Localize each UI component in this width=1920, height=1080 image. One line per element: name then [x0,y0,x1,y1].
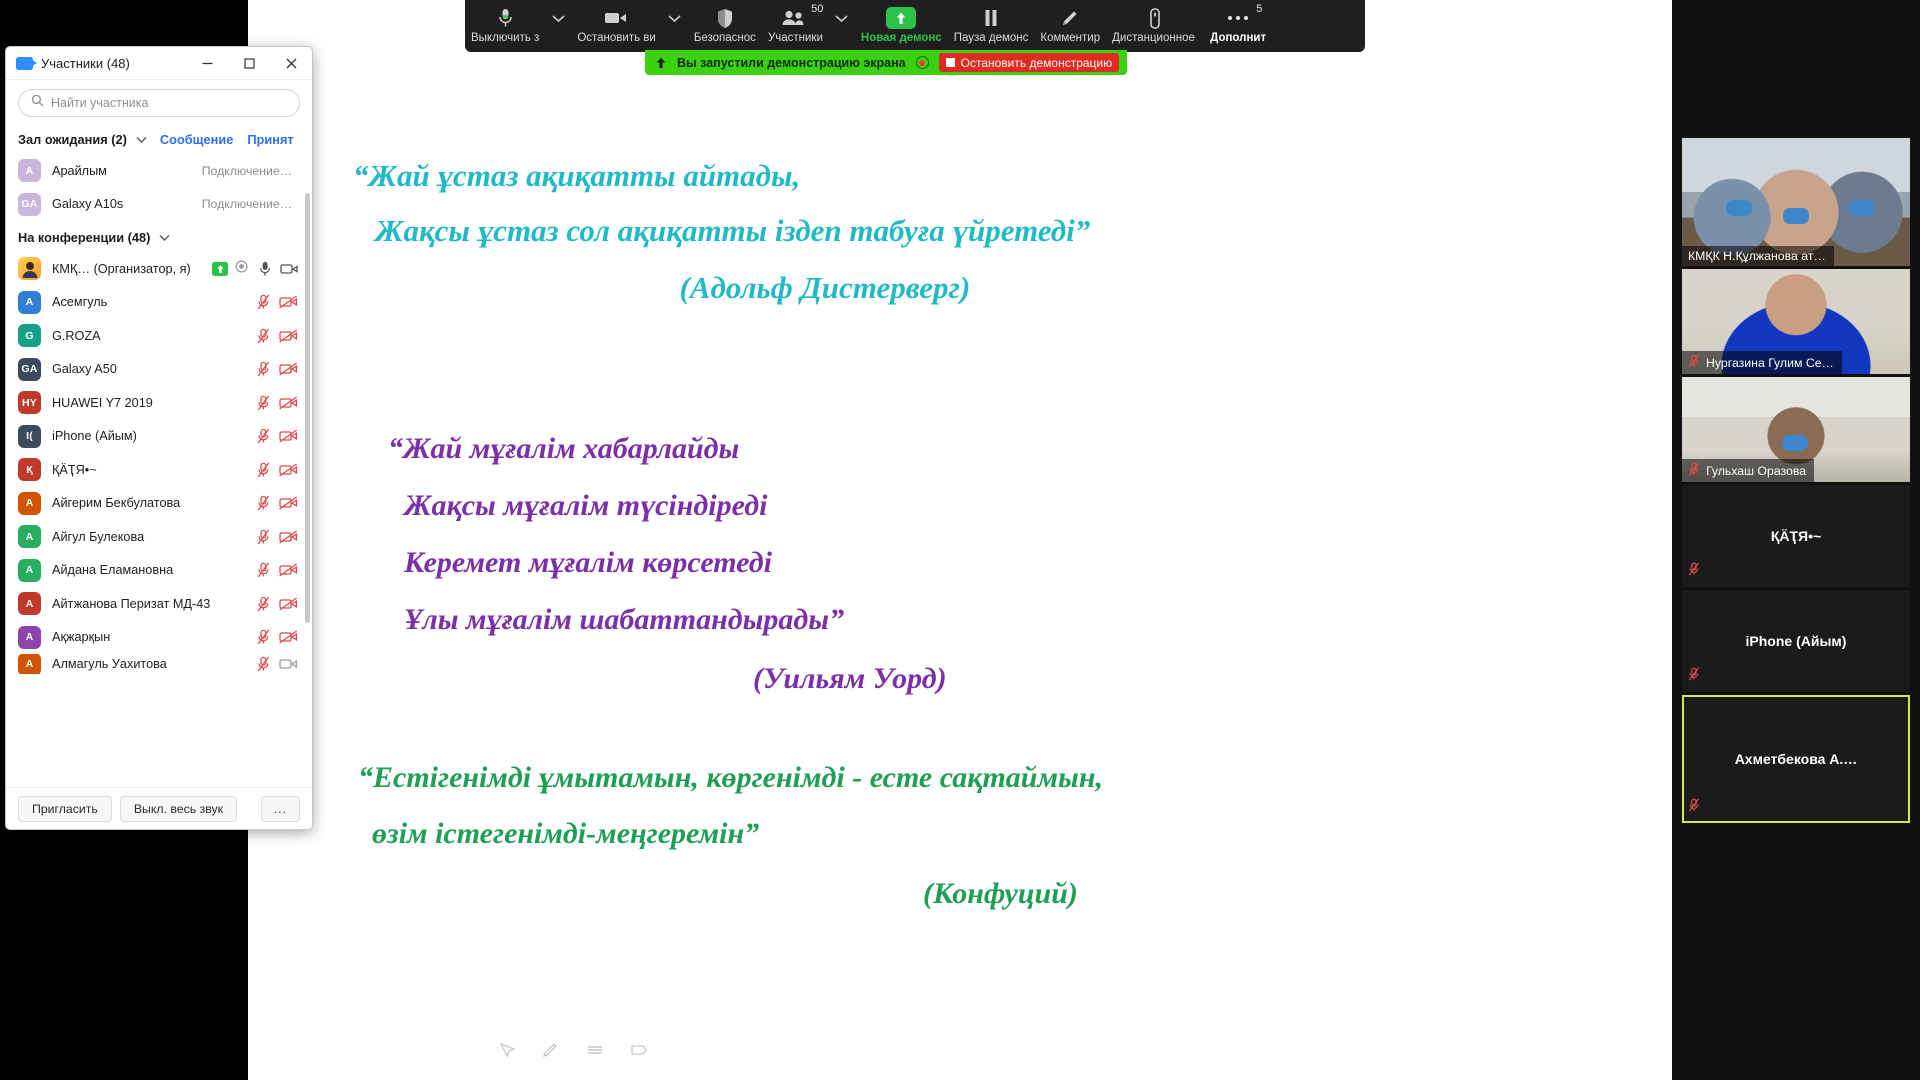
participant-name: Ақжарқын [52,630,246,644]
participant-name: КМҚ… (Организатор, я) [52,262,201,276]
participant-row[interactable]: GA Galaxy A50 [6,353,312,387]
avatar: G [18,324,41,347]
toolbar-mute-label: Выключить з [471,32,539,44]
microphone-muted-icon[interactable] [257,395,270,411]
more-dots-icon: 5 [1228,7,1249,29]
microphone-muted-icon[interactable] [257,328,270,344]
audio-only-tile-active-speaker[interactable]: Ахметбекова А.… [1682,695,1910,823]
avatar: A [18,592,41,615]
slide-annotation-tools [498,1042,648,1058]
participant-name: Galaxy A50 [52,362,246,376]
meeting-toolbar: Выключить з Остановить ви Безопаснос 50 [465,0,1365,52]
avatar: GA [18,358,41,381]
participant-name: Айтжанова Перизат МД-43 [52,597,246,611]
tile-participant-name: iPhone (Айым) [1746,633,1847,649]
microphone-muted-icon[interactable] [257,361,270,377]
presentation-slide: “Жай ұстаз ақиқатты айтады, Жақсы ұстаз … [248,0,1672,1080]
participants-footer: Пригласить Выкл. весь звук ... [6,787,312,829]
pause-icon [983,7,999,29]
microphone-muted-icon[interactable] [257,294,270,310]
toolbar-participants-label: Участники [768,32,823,44]
video-off-icon[interactable] [279,563,298,577]
waiting-room-label: Зал ожидания (2) [18,132,127,147]
microphone-muted-icon [1688,462,1700,479]
media-icons [257,294,300,310]
toolbar-more-button[interactable]: 5 Дополнит [1204,0,1272,52]
toolbar-video-options-caret[interactable] [662,0,688,52]
toolbar-security-button[interactable]: Безопаснос [688,0,762,52]
quote2-line1: “Жай мұғалім хабарлайды [388,432,739,465]
stop-square-icon [946,58,955,67]
participant-row-host[interactable]: КМҚ… (Организатор, я) [6,252,312,286]
share-arrow-icon [655,56,667,69]
participants-more-button[interactable]: ... [261,796,300,822]
participants-search [6,80,312,123]
microphone-muted-icon[interactable] [257,656,270,672]
quote-ward: “Жай мұғалім хабарлайды Жақсы мұғалім тү… [388,420,947,707]
mute-all-button[interactable]: Выкл. весь звук [120,796,237,822]
participant-row[interactable]: G G.ROZA [6,319,312,353]
in-meeting-label: На конференции (48) [18,230,150,245]
video-off-icon[interactable] [279,496,298,510]
microphone-muted-icon[interactable] [257,629,270,645]
chevron-down-icon[interactable] [159,234,170,242]
microphone-muted-icon[interactable] [257,428,270,444]
avatar: A [18,492,41,515]
toolbar-stop-video-label: Остановить ви [577,32,656,44]
participant-name: Асемгуль [52,295,246,309]
tile-participant-name: ҚӒҬЯ•~ [1771,528,1821,544]
toolbar-participants-button[interactable]: 50 Участники [762,0,829,52]
toolbar-audio-options-caret[interactable] [545,0,571,52]
avatar [18,257,41,280]
minimize-button[interactable] [190,48,224,78]
avatar: GA [18,193,41,216]
audio-only-tile[interactable]: ҚӒҬЯ•~ [1682,485,1910,587]
microphone-muted-icon[interactable] [257,562,270,578]
video-off-icon[interactable] [279,295,298,309]
stop-share-button[interactable]: Остановить демонстрацию [939,53,1119,72]
microphone-muted-icon [1688,667,1700,686]
quote3-line1: “Естігенімді ұмытамын, көргенімді - есте… [358,761,1103,794]
participants-icon: 50 [781,7,809,29]
participants-count-badge: 50 [811,3,823,15]
maximize-button[interactable] [232,48,266,78]
toolbar-pause-share-button[interactable]: Пауза демонс [948,0,1035,52]
sharing-badge-icon [212,262,228,276]
stop-share-label: Остановить демонстрацию [961,56,1112,70]
video-off-icon[interactable] [279,429,298,443]
media-icons [257,428,300,444]
toolbar-new-share-button[interactable]: Новая демонс [855,0,948,52]
participant-name: Арайлым [52,164,191,178]
share-screen-up-arrow-icon [886,7,916,29]
avatar: A [18,559,41,582]
waiting-room-row[interactable]: GA Galaxy A10s Подключение… [6,188,312,222]
avatar: A [18,654,41,674]
media-icons [257,629,300,645]
participant-name: Айдана Еламановна [52,563,246,577]
media-icons [257,361,300,377]
participants-window-title: Участники (48) [41,56,182,71]
participants-scrollbar[interactable] [305,193,310,623]
video-tile[interactable]: Нургазина Гулим Се… [1682,269,1910,374]
quote2-line4: Ұлы мұғалім шабаттандырады” [388,603,844,636]
participant-row[interactable]: A Ақжарқын [6,621,312,655]
recording-indicator-icon[interactable] [916,56,929,69]
tile-participant-name: КМҚК Н.Құлжанова ат… [1688,249,1826,263]
video-off-icon[interactable] [279,597,298,611]
in-meeting-header[interactable]: На конференции (48) [6,221,312,252]
participant-row[interactable]: Қ ҚӒҬЯ•~ [6,453,312,487]
participant-row[interactable]: A Айтжанова Перизат МД-43 [6,587,312,621]
media-icons [257,596,300,612]
quote3-line2: өзім істегенімді-меңгеремін” [358,817,759,850]
avatar: HY [18,391,41,414]
share-status-text: Вы запустили демонстрацию экрана [677,56,906,70]
waiting-room-row[interactable]: A Арайлым Подключение… [6,154,312,188]
participant-row[interactable]: HY HUAWEI Y7 2019 [6,386,312,420]
microphone-muted-icon[interactable] [257,596,270,612]
toolbar-remote-control-label: Дистанционное уп [1112,32,1198,44]
video-off-icon[interactable] [279,362,298,376]
video-off-icon[interactable] [279,530,298,544]
microphone-muted-icon[interactable] [257,529,270,545]
waiting-room-admit-action[interactable]: Принят [247,132,293,147]
quote1-author: (Адольф Дистерверг) [353,260,1090,315]
lines-icon[interactable] [586,1042,604,1058]
participant-row[interactable]: A Алмагуль Уахитова [6,654,312,674]
toolbar-mute-button[interactable]: Выключить з [465,0,545,52]
toolbar-remote-control-button[interactable]: Дистанционное уп [1106,0,1204,52]
avatar: A [18,626,41,649]
quote-confucius: “Естігенімді ұмытамын, көргенімді - есте… [358,750,1103,922]
host-badges [212,260,248,278]
quote2-author: (Уильям Уорд) [388,650,947,707]
tile-nametag: КМҚК Н.Құлжанова ат… [1682,246,1834,266]
participant-name: iPhone (Айым) [52,429,246,443]
microphone-muted-icon [1688,562,1700,581]
participant-row[interactable]: I( iPhone (Айым) [6,420,312,454]
audio-only-tile[interactable]: iPhone (Айым) [1682,590,1910,692]
microphone-icon [498,7,513,29]
quote1-line2: Жақсы ұстаз сол ақиқатты іздеп табуға үй… [353,213,1090,248]
participants-window: Участники (48) Зал ожидания [5,46,313,830]
remote-control-icon [1148,7,1162,29]
microphone-muted-icon[interactable] [257,495,270,511]
close-button[interactable] [274,48,308,78]
participant-name: Алмагуль Уахитова [52,657,246,671]
toolbar-more-label: Дополнит [1210,32,1266,44]
participant-row[interactable]: A Айдана Еламановна [6,554,312,588]
avatar: A [18,525,41,548]
video-tile[interactable]: Гульхаш Оразова [1682,377,1910,482]
participant-name: HUAWEI Y7 2019 [52,396,246,410]
pointer-icon[interactable] [498,1042,516,1058]
chevron-down-icon[interactable] [136,136,147,144]
more-badge: 5 [1256,3,1262,15]
quote2-line2: Жақсы мұғалім түсіндіреді [388,489,767,522]
video-off-icon[interactable] [279,630,298,644]
toolbar-security-label: Безопаснос [694,32,756,44]
toolbar-annotate-label: Комментир [1040,32,1100,44]
participant-row[interactable]: A Асемгуль [6,286,312,320]
participant-row[interactable]: A Айгерим Бекбулатова [6,487,312,521]
video-off-icon[interactable] [279,463,298,477]
participant-row[interactable]: A Айгул Булекова [6,520,312,554]
quote2-line3: Керемет мұғалім көрсетеді [388,546,772,579]
media-icons [257,495,300,511]
video-off-icon[interactable] [279,329,298,343]
microphone-muted-icon [1688,798,1700,817]
participant-name: ҚӒҬЯ•~ [52,463,246,477]
zoom-logo-icon [16,57,33,70]
avatar: Қ [18,458,41,481]
avatar: A [18,159,41,182]
tile-nametag: Нургазина Гулим Се… [1682,351,1842,374]
participants-list[interactable]: Зал ожидания (2) Сообщение Принят A Арай… [6,123,312,787]
participant-status: Подключение… [202,197,300,211]
quote1-line1: “Жай ұстаз ақиқатты айтады, [353,158,800,193]
recording-badge-icon [235,260,248,278]
media-icons [257,328,300,344]
video-camera-icon[interactable] [280,263,298,275]
pen-icon[interactable] [542,1042,560,1058]
avatar: I( [18,425,41,448]
microphone-icon[interactable] [259,261,271,277]
avatar: A [18,291,41,314]
participant-name: Galaxy A10s [52,197,191,211]
video-filmstrip: КМҚК Н.Құлжанова ат… Нургазина Гулим Се…… [1672,0,1920,1080]
invite-button[interactable]: Пригласить [18,796,112,822]
shared-screen-content: “Жай ұстаз ақиқатты айтады, Жақсы ұстаз … [248,0,1672,1080]
toolbar-new-share-label: Новая демонс [861,32,942,44]
search-input[interactable] [51,96,287,110]
pencil-icon [1060,7,1080,29]
tile-participant-name: Нургазина Гулим Се… [1706,356,1834,370]
screen-share-status-bar: Вы запустили демонстрацию экрана Останов… [645,50,1127,75]
microphone-muted-icon [1688,354,1700,371]
toolbar-pause-share-label: Пауза демонс [954,32,1029,44]
media-icons [257,562,300,578]
search-icon [31,94,44,112]
toolbar-stop-video-button[interactable]: Остановить ви [571,0,662,52]
waiting-room-message-action[interactable]: Сообщение [160,132,233,147]
media-icons [259,261,300,277]
video-off-icon[interactable] [279,396,298,410]
participant-name: Айгерим Бекбулатова [52,496,246,510]
shield-icon [716,7,734,29]
tile-participant-name: Ахметбекова А.… [1735,751,1858,767]
shape-icon[interactable] [630,1042,648,1058]
toolbar-annotate-button[interactable]: Комментир [1034,0,1106,52]
quote-disterweg: “Жай ұстаз ақиқатты айтады, Жақсы ұстаз … [353,148,1090,315]
toolbar-participants-caret[interactable] [829,0,855,52]
video-off-icon[interactable] [279,657,298,671]
quote3-author: (Конфуций) [358,866,1103,922]
participant-name: Айгул Булекова [52,530,246,544]
media-icons [257,462,300,478]
video-tile[interactable]: КМҚК Н.Құлжанова ат… [1682,138,1910,266]
participant-name: G.ROZA [52,329,246,343]
participant-status: Подключение… [202,164,300,178]
video-camera-icon [604,7,629,29]
microphone-muted-icon[interactable] [257,462,270,478]
media-icons [257,656,300,672]
waiting-room-header[interactable]: Зал ожидания (2) Сообщение Принят [6,123,312,154]
tile-participant-name: Гульхаш Оразова [1706,464,1806,478]
media-icons [257,395,300,411]
participants-window-titlebar: Участники (48) [6,47,312,80]
media-icons [257,529,300,545]
tile-nametag: Гульхаш Оразова [1682,459,1814,482]
search-box[interactable] [18,89,300,117]
